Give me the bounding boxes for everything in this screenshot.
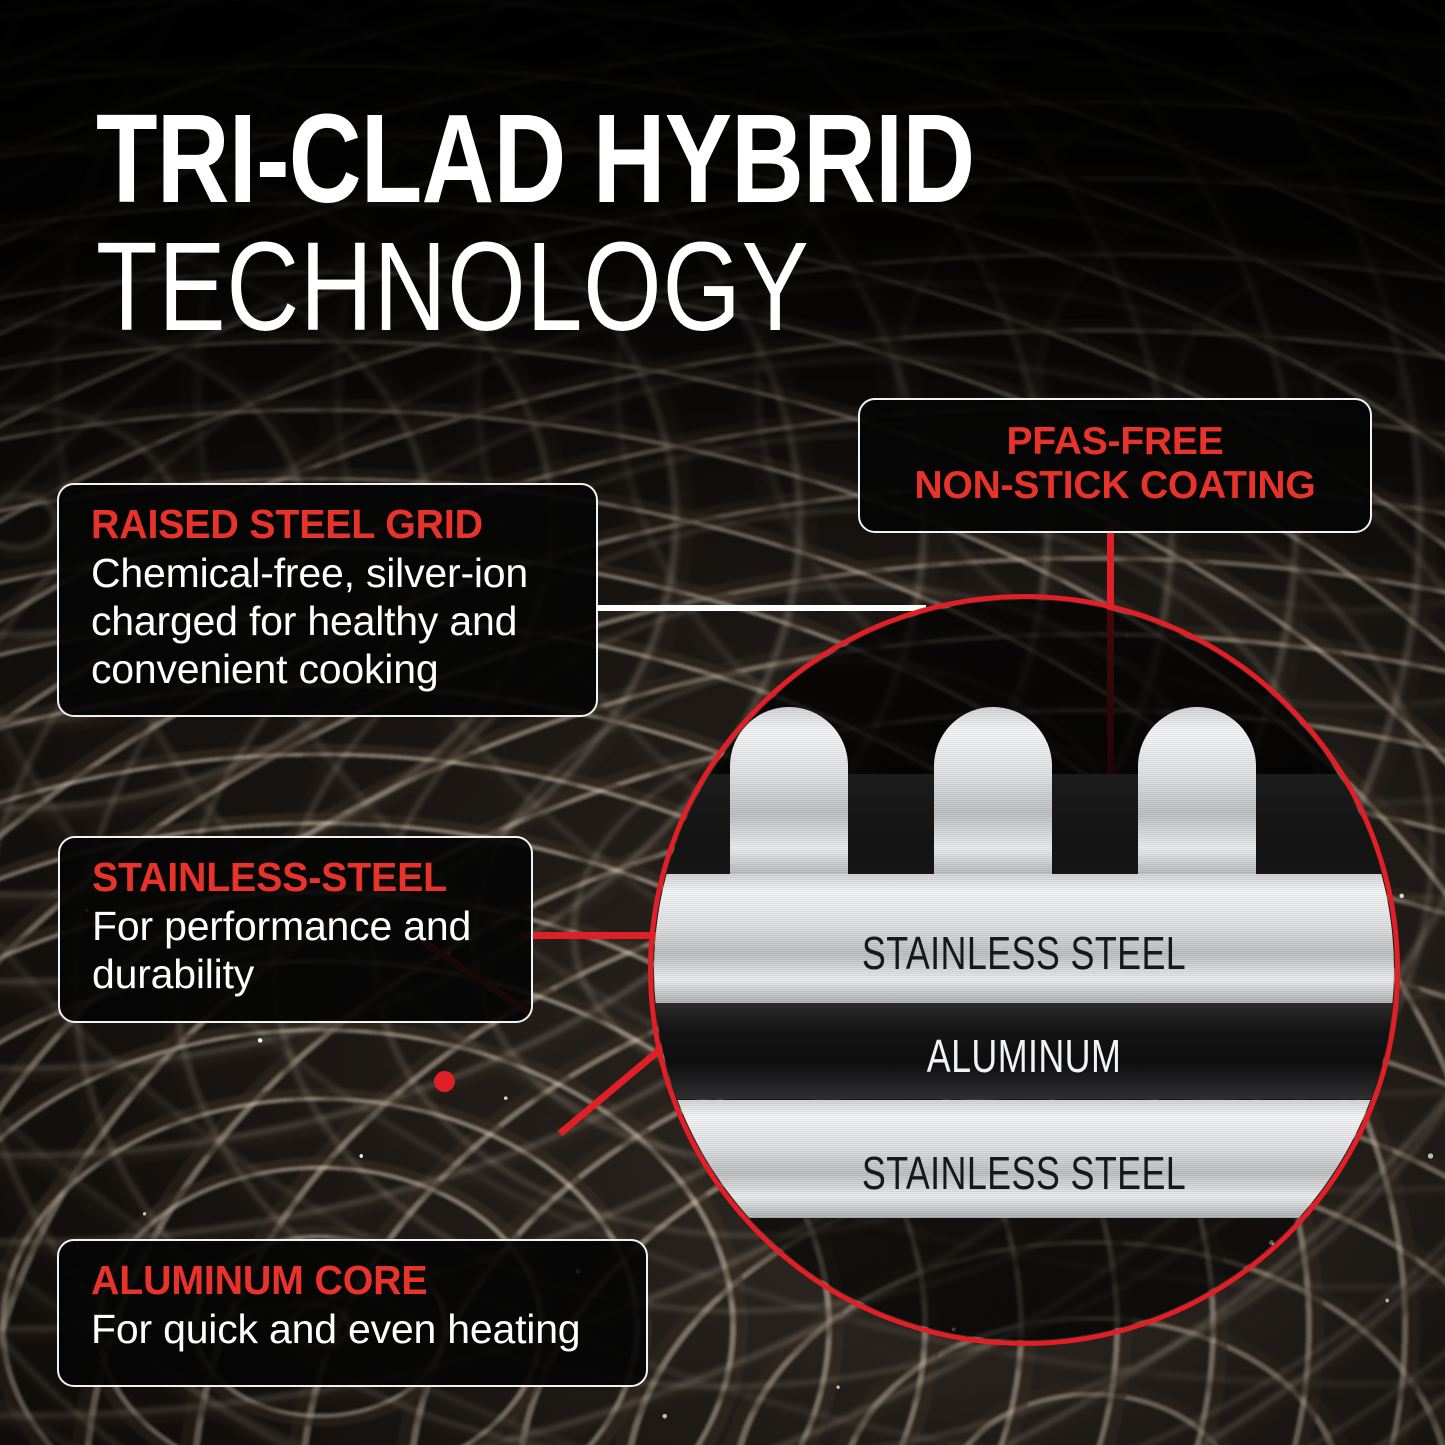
raised-steel-bump-3	[1138, 707, 1256, 879]
cross-section-diagram: STAINLESS STEEL ALUMINUM STAINLESS STEEL	[648, 594, 1400, 1346]
raised-steel-bump-1	[730, 707, 848, 879]
callout-stainless-steel-body: For performance and durability	[92, 903, 505, 998]
callout-aluminum-core[interactable]: ALUMINUM CORE For quick and even heating	[57, 1239, 648, 1387]
layer-label-aluminum: ALUMINUM	[735, 1029, 1312, 1083]
connector-stainless-diagonal-dot	[434, 1071, 455, 1092]
callout-raised-steel-grid-body: Chemical-free, silver-ion charged for he…	[91, 550, 570, 693]
title-line-2: TECHNOLOGY	[96, 229, 960, 345]
title-line-1: TRI-CLAD HYBRID	[96, 104, 960, 215]
callout-pfas-heading-line2: NON-STICK COATING	[914, 464, 1315, 507]
callout-aluminum-core-heading: ALUMINUM CORE	[91, 1259, 599, 1302]
callout-stainless-steel-heading: STAINLESS-STEEL	[92, 856, 488, 899]
callout-raised-steel-grid[interactable]: RAISED STEEL GRID Chemical-free, silver-…	[57, 483, 598, 717]
callout-stainless-steel[interactable]: STAINLESS-STEEL For performance and dura…	[58, 836, 533, 1023]
layer-label-stainless-steel-inner: STAINLESS STEEL	[735, 1146, 1312, 1200]
layer-label-stainless-steel-outer: STAINLESS STEEL	[735, 926, 1312, 980]
raised-steel-bump-2	[934, 707, 1052, 879]
callout-aluminum-core-body: For quick and even heating	[91, 1306, 620, 1353]
callout-pfas-heading-line1: PFAS-FREE	[1006, 420, 1223, 463]
page-title: TRI-CLAD HYBRID TECHNOLOGY	[96, 104, 1176, 345]
cross-section-clip: STAINLESS STEEL ALUMINUM STAINLESS STEEL	[654, 600, 1394, 1340]
callout-pfas-free[interactable]: PFAS-FREE NON-STICK COATING	[858, 398, 1372, 533]
callout-pfas-heading: PFAS-FREE NON-STICK COATING	[878, 420, 1352, 507]
callout-raised-steel-grid-heading: RAISED STEEL GRID	[91, 503, 551, 546]
infographic-canvas: TRI-CLAD HYBRID TECHNOLOGY STAINLESS STE…	[0, 0, 1445, 1445]
